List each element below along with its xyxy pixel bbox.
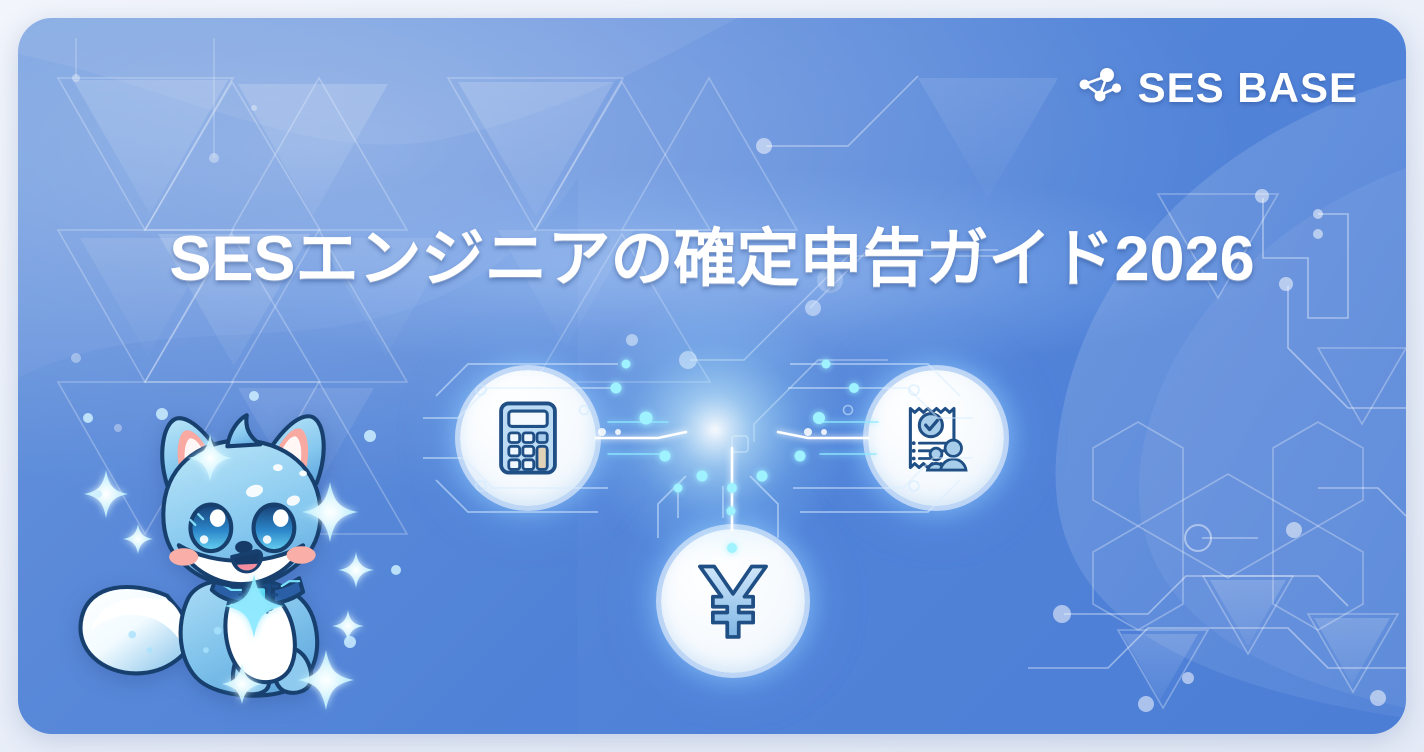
- network-nodes-icon: [1076, 64, 1124, 112]
- icon-node-yen[interactable]: [661, 529, 805, 673]
- icon-node-calculator[interactable]: [460, 370, 596, 506]
- brand-logo[interactable]: SES BASE: [1076, 64, 1358, 112]
- og-image-canvas: SES BASE SESエンジニアの確定申告ガイド2026: [0, 0, 1424, 752]
- yen-currency-icon: [687, 555, 779, 647]
- calculator-icon: [487, 397, 569, 479]
- icon-node-receipt[interactable]: [868, 370, 1004, 506]
- receipt-document-people-icon: [895, 397, 977, 479]
- hero-card: SES BASE SESエンジニアの確定申告ガイド2026: [18, 18, 1406, 734]
- page-title: SESエンジニアの確定申告ガイド2026: [18, 223, 1406, 295]
- brand-name: SES BASE: [1138, 67, 1358, 109]
- blue-fox-mascot: [74, 390, 404, 720]
- mascot-illustration: [74, 390, 404, 720]
